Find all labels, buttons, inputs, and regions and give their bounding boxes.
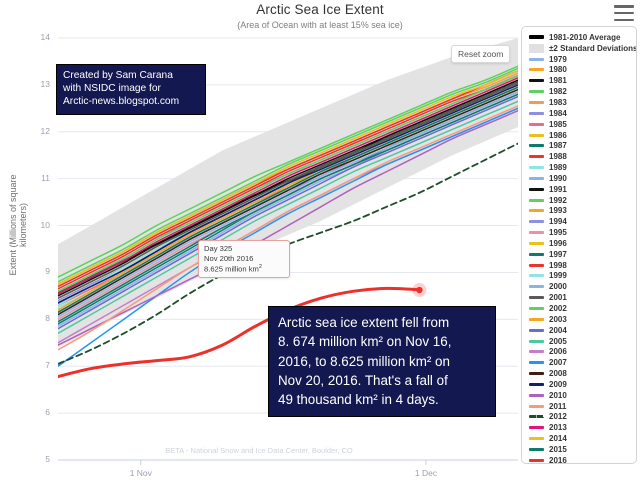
tooltip-day: Day 325 [204,244,284,254]
legend-item-1986[interactable]: 1986 [522,130,636,141]
legend-swatch [529,459,544,462]
credit-line-1: Created by Sam Carana [63,69,200,82]
legend-swatch [529,448,544,451]
legend-label: 1983 [549,98,567,107]
legend-swatch [529,79,544,82]
legend-swatch [529,220,544,223]
legend-item-2013[interactable]: 2013 [522,422,636,433]
legend-item-1997[interactable]: 1997 [522,249,636,260]
legend-label: 2010 [549,391,567,400]
legend-item-1994[interactable]: 1994 [522,216,636,227]
legend-item-1987[interactable]: 1987 [522,140,636,151]
legend-label: 1987 [549,141,567,150]
legend-item-2010[interactable]: 2010 [522,390,636,401]
y-axis-tick: 14 [28,32,50,42]
legend-item-2004[interactable]: 2004 [522,325,636,336]
legend-label: 1981-2010 Average [549,33,620,42]
legend-label: 2013 [549,423,567,432]
tooltip-value-exponent: 2 [259,264,262,270]
legend-item-1993[interactable]: 1993 [522,206,636,217]
legend-swatch [529,68,544,71]
legend-label: 2012 [549,412,567,421]
reset-zoom-button[interactable]: Reset zoom [451,45,510,63]
legend-item-1991[interactable]: 1991 [522,184,636,195]
legend-item-1998[interactable]: 1998 [522,260,636,271]
legend-items[interactable]: 1981-2010 Average±2 Standard Deviations1… [522,32,636,464]
legend-item-1989[interactable]: 1989 [522,162,636,173]
x-axis-tick: 1 Dec [404,468,448,478]
legend-label: 2006 [549,347,567,356]
legend-label: 1989 [549,163,567,172]
legend-label: 2003 [549,315,567,324]
legend-label: 1979 [549,55,567,64]
legend-label: 1999 [549,271,567,280]
credit-line-2: with NSIDC image for [63,82,200,95]
legend-swatch [529,144,544,147]
legend-swatch [529,426,544,429]
legend-item-2003[interactable]: 2003 [522,314,636,325]
legend-label: 2002 [549,304,567,313]
legend-item-2009[interactable]: 2009 [522,379,636,390]
y-axis-tick: 5 [28,454,50,464]
legend-item-1981[interactable]: 1981 [522,75,636,86]
legend-swatch [529,58,544,61]
legend-item-1983[interactable]: 1983 [522,97,636,108]
legend-label: 1988 [549,152,567,161]
legend-swatch [529,90,544,93]
legend-swatch [529,361,544,364]
credit-line-3: Arctic-news.blogspot.com [63,95,200,108]
legend-label: 2011 [549,402,566,411]
legend-label: 2001 [549,293,567,302]
legend-label: 1992 [549,196,567,205]
legend-item-1990[interactable]: 1990 [522,173,636,184]
data-point-tooltip: Day 325 Nov 20th 2016 8.625 million km2 [198,240,290,278]
legend-label: 2004 [549,326,567,335]
legend-item-1988[interactable]: 1988 [522,151,636,162]
y-axis-tick: 13 [28,79,50,89]
legend-label: 2000 [549,282,567,291]
legend-swatch [529,101,544,104]
data-source-credit: BETA - National Snow and Ice Data Center… [0,446,518,455]
legend-label: 1993 [549,206,567,215]
legend-item-1982[interactable]: 1982 [522,86,636,97]
tooltip-date: Nov 20th 2016 [204,254,284,264]
legend-label: 2009 [549,380,567,389]
y-axis-tick: 7 [28,360,50,370]
legend-label: 1991 [549,185,567,194]
legend-label: 1986 [549,131,567,140]
legend-swatch [529,394,544,397]
legend-swatch [529,112,544,115]
legend-item-1979[interactable]: 1979 [522,54,636,65]
legend-swatch [529,177,544,180]
legend-label: 2007 [549,358,567,367]
legend-item-2-standard-deviations[interactable]: ±2 Standard Deviations [522,43,636,54]
legend-swatch [529,155,544,158]
y-axis-tick: 12 [28,126,50,136]
main-line-3: 2016, to 8.625 million km² on [278,352,487,371]
legend-label: 1984 [549,109,567,118]
legend-label: 1998 [549,261,567,270]
legend-label: 1990 [549,174,567,183]
legend-swatch [529,264,544,267]
legend-item-2006[interactable]: 2006 [522,346,636,357]
legend-item-1980[interactable]: 1980 [522,65,636,76]
legend-item-2002[interactable]: 2002 [522,303,636,314]
x-axis-tick: 1 Nov [119,468,163,478]
legend-item-2011[interactable]: 2011 [522,401,636,412]
legend-swatch [529,383,544,386]
main-line-2: 8. 674 million km² on Nov 16, [278,332,487,351]
tooltip-value: 8.625 million km2 [204,263,284,274]
legend-swatch [529,199,544,202]
legend-label: 2014 [549,434,567,443]
legend-label: 2016 [549,456,567,464]
legend-item-2016[interactable]: 2016 [522,455,636,464]
legend-swatch [529,35,544,39]
legend-label: 1981 [549,76,567,85]
legend-swatch [529,253,544,256]
legend-swatch [529,296,544,299]
legend-swatch [529,350,544,353]
legend-swatch [529,307,544,310]
legend-item-2001[interactable]: 2001 [522,292,636,303]
legend-swatch [529,134,544,137]
y-axis-tick: 8 [28,313,50,323]
legend-swatch [529,437,544,440]
legend-item-2005[interactable]: 2005 [522,336,636,347]
legend-swatch [529,209,544,212]
credit-annotation-box: Created by Sam Carana with NSIDC image f… [56,64,206,115]
chart-legend[interactable]: 1981-2010 Average±2 Standard Deviations1… [521,26,637,464]
legend-swatch [529,285,544,288]
legend-label: 1995 [549,228,567,237]
legend-swatch [529,318,544,321]
legend-item-2000[interactable]: 2000 [522,281,636,292]
legend-label: 1997 [549,250,567,259]
legend-swatch [529,231,544,234]
legend-item-1996[interactable]: 1996 [522,238,636,249]
legend-label: 2015 [549,445,567,454]
y-axis-title: Extent (Millions of square kilometers) [8,155,28,295]
legend-label: 1982 [549,87,567,96]
legend-swatch [529,274,544,277]
legend-label: 1980 [549,65,567,74]
legend-label: 1985 [549,120,567,129]
legend-item-2008[interactable]: 2008 [522,368,636,379]
legend-swatch [529,188,544,191]
legend-item-2015[interactable]: 2015 [522,444,636,455]
legend-label: 2008 [549,369,567,378]
main-annotation-box: Arctic sea ice extent fell from 8. 674 m… [268,306,496,417]
legend-swatch [529,415,544,418]
legend-label: ±2 Standard Deviations [549,44,637,53]
legend-label: 1996 [549,239,567,248]
legend-item-2012[interactable]: 2012 [522,412,636,423]
legend-item-1999[interactable]: 1999 [522,271,636,282]
legend-item-1984[interactable]: 1984 [522,108,636,119]
legend-item-1985[interactable]: 1985 [522,119,636,130]
main-line-1: Arctic sea ice extent fell from [278,313,487,332]
y-axis-tick: 9 [28,266,50,276]
y-axis-tick: 10 [28,220,50,230]
legend-swatch [529,123,544,126]
legend-item-2014[interactable]: 2014 [522,433,636,444]
legend-swatch [529,340,544,343]
legend-label: 1994 [549,217,567,226]
legend-swatch [529,166,544,169]
legend-swatch [529,405,544,408]
legend-label: 2005 [549,337,567,346]
legend-item-1981-2010-average[interactable]: 1981-2010 Average [522,32,636,43]
legend-item-1995[interactable]: 1995 [522,227,636,238]
main-line-5: 49 thousand km² in 4 days. [278,390,487,409]
legend-swatch [529,329,544,332]
y-axis-tick: 11 [28,173,50,183]
legend-item-2007[interactable]: 2007 [522,357,636,368]
legend-swatch [529,372,544,375]
legend-swatch [529,44,544,53]
main-line-4: Nov 20, 2016. That's a fall of [278,371,487,390]
legend-swatch [529,242,544,245]
y-axis-tick: 6 [28,407,50,417]
tooltip-value-text: 8.625 million km [204,265,259,274]
legend-item-1992[interactable]: 1992 [522,195,636,206]
